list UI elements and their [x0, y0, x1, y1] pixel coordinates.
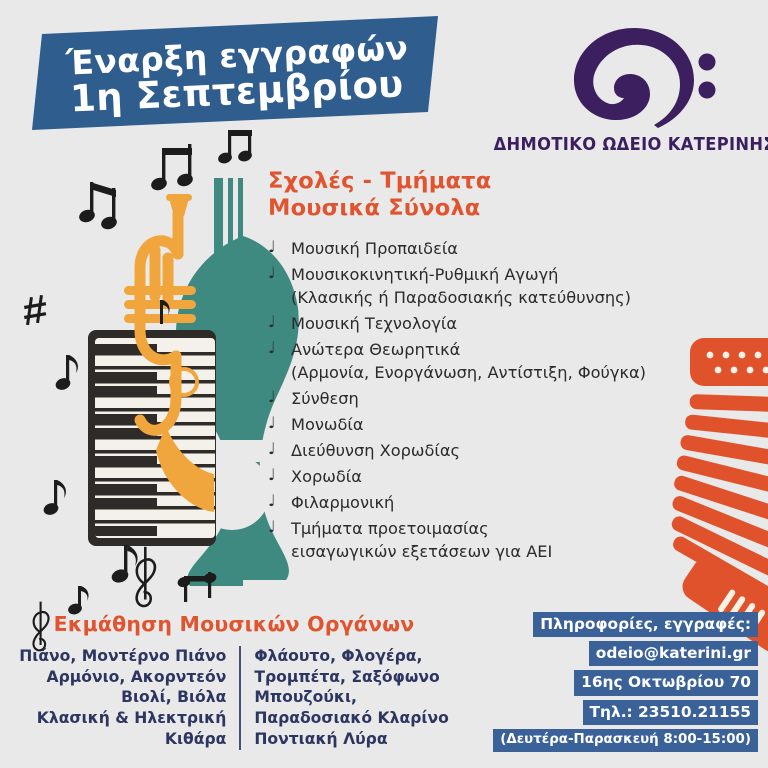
- music-note-bullet-icon: ♩: [268, 311, 276, 334]
- music-note-bullet-icon: ♩: [268, 490, 276, 513]
- list-item-label: Διεύθυνση Χορωδίας: [291, 441, 460, 460]
- contact-email[interactable]: odeio@katerini.gr: [589, 641, 758, 666]
- list-item-label: Μουσικοκινητική-Ρυθμική Αγωγή: [291, 265, 558, 284]
- music-note-bullet-icon: ♩: [268, 262, 276, 285]
- schools-title-line-1: Σχολές - Τμήματα: [268, 168, 491, 194]
- list-item-sublabel: εισαγωγικών εξετάσεων για ΑΕΙ: [291, 540, 688, 563]
- music-note-bullet-icon: ♩: [268, 337, 276, 360]
- instrument-line: Φλάουτο, Φλογέρα,: [254, 646, 448, 667]
- contact-address: 16ης Οκτωβρίου 70: [574, 670, 758, 695]
- list-item-label: Μουσική Τεχνολογία: [291, 314, 457, 333]
- announcement-banner: Έναρξη εγγραφών 1η Σεπτεμβρίου: [30, 16, 440, 134]
- schools-title: Σχολές - Τμήματα Μουσικά Σύνολα: [268, 168, 688, 223]
- contact-phone: Τηλ.: 23510.21155: [583, 700, 759, 725]
- list-item-label: Μονωδία: [291, 415, 364, 434]
- poster-canvas: Έναρξη εγγραφών 1η Σεπτεμβρίου ΔΗΜΟΤΙΚΟ …: [0, 0, 768, 768]
- eighth-note-icon: [42, 480, 66, 517]
- list-item-label: Μουσική Προπαιδεία: [291, 239, 458, 258]
- list-item-sublabel: (Κλασικής ή Παραδοσιακής κατεύθυνσης): [291, 286, 688, 309]
- list-item-label: Φιλαρμονική: [291, 493, 394, 512]
- instruments-right-column: Φλάουτο, Φλογέρα,Τρομπέτα, ΣαξόφωνοΜπουζ…: [241, 646, 448, 750]
- list-item: ♩Χορωδία: [268, 465, 688, 488]
- list-item: ♩Τμήματα προετοιμασίαςεισαγωγικών εξετάσ…: [268, 517, 688, 563]
- sharp-icon: [24, 295, 46, 325]
- beamed-notes-icon: [78, 182, 119, 231]
- music-note-bullet-icon: ♩: [268, 516, 276, 539]
- instrument-line: Τρομπέτα, Σαξόφωνο: [254, 667, 448, 688]
- list-item: ♩Φιλαρμονική: [268, 491, 688, 514]
- schools-title-line-2: Μουσικά Σύνολα: [268, 195, 480, 221]
- list-item-sublabel: (Αρμονία, Ενοργάνωση, Αντίστιξη, Φούγκα): [291, 361, 688, 384]
- list-item-label: Χορωδία: [291, 467, 362, 486]
- list-item: ♩Ανώτερα Θεωρητικά(Αρμονία, Ενοργάνωση, …: [268, 338, 688, 384]
- contact-hours: (Δευτέρα-Παρασκευή 8:00-15:00): [493, 729, 758, 752]
- instruments-section: Εκμάθηση Μουσικών Οργάνων Πιάνο, Μοντέρν…: [8, 612, 460, 750]
- list-item-label: Ανώτερα Θεωρητικά: [291, 340, 460, 359]
- banner-text-group: Έναρξη εγγραφών 1η Σεπτεμβρίου: [28, 7, 443, 143]
- music-note-bullet-icon: ♩: [268, 438, 276, 461]
- schools-section: Σχολές - Τμήματα Μουσικά Σύνολα ♩Μουσική…: [268, 168, 688, 566]
- music-note-bullet-icon: ♩: [268, 464, 276, 487]
- logo-name: ΔΗΜΟΤΙΚΟ ΩΔΕΙΟ ΚΑΤΕΡΙΝΗΣ: [493, 135, 768, 155]
- list-item: ♩Μουσική Τεχνολογία: [268, 312, 688, 335]
- instrument-line: Αρμόνιο, Ακορντεόν: [19, 667, 226, 688]
- instrument-line: Κιθάρα: [19, 729, 226, 750]
- contact-section: Πληροφορίες, εγγραφές:odeio@katerini.gr1…: [486, 612, 758, 756]
- contact-heading: Πληροφορίες, εγγραφές:: [533, 612, 758, 637]
- instruments-left-column: Πιάνο, Μοντέρνο ΠιάνοΑρμόνιο, ΑκορντεόνΒ…: [19, 646, 239, 750]
- schools-list: ♩Μουσική Προπαιδεία♩Μουσικοκινητική-Ρυθμ…: [268, 237, 688, 563]
- treble-clef-icon: [137, 547, 155, 606]
- conservatory-logo: ΔΗΜΟΤΙΚΟ ΩΔΕΙΟ ΚΑΤΕΡΙΝΗΣ: [508, 18, 760, 168]
- eighth-note-icon: [54, 355, 78, 392]
- music-note-bullet-icon: ♩: [268, 236, 276, 259]
- list-item: ♩Μουσικοκινητική-Ρυθμική Αγωγή(Κλασικής …: [268, 263, 688, 309]
- instruments-divider: [239, 646, 241, 750]
- instrument-line: Παραδοσιακό Κλαρίνο: [254, 708, 448, 729]
- list-item: ♩Διεύθυνση Χορωδίας: [268, 439, 688, 462]
- list-item: ♩Σύνθεση: [268, 387, 688, 410]
- eighth-note-icon: [110, 545, 138, 585]
- instrument-line: Κλασική & Ηλεκτρική: [19, 708, 226, 729]
- music-note-bullet-icon: ♩: [268, 386, 276, 409]
- list-item: ♩Μουσική Προπαιδεία: [268, 237, 688, 260]
- instrument-line: Πιάνο, Μοντέρνο Πιάνο: [19, 646, 226, 667]
- instruments-title: Εκμάθηση Μουσικών Οργάνων: [8, 612, 460, 637]
- instrument-line: Βιολί, Βιόλα: [19, 687, 226, 708]
- list-item: ♩Μονωδία: [268, 413, 688, 436]
- list-item-label: Σύνθεση: [291, 389, 359, 408]
- list-item-label: Τμήματα προετοιμασίας: [291, 519, 489, 538]
- instrument-line: Ποντιακή Λύρα: [254, 729, 448, 750]
- instrument-line: Μπουζούκι,: [254, 687, 448, 708]
- beamed-notes-icon: [217, 130, 254, 165]
- music-note-bullet-icon: ♩: [268, 412, 276, 435]
- instruments-columns: Πιάνο, Μοντέρνο ΠιάνοΑρμόνιο, ΑκορντεόνΒ…: [8, 646, 460, 750]
- bass-clef-icon: [508, 18, 760, 128]
- beamed-notes-icon: [150, 144, 195, 192]
- logo-name-row: ΔΗΜΟΤΙΚΟ ΩΔΕΙΟ ΚΑΤΕΡΙΝΗΣ: [508, 128, 760, 162]
